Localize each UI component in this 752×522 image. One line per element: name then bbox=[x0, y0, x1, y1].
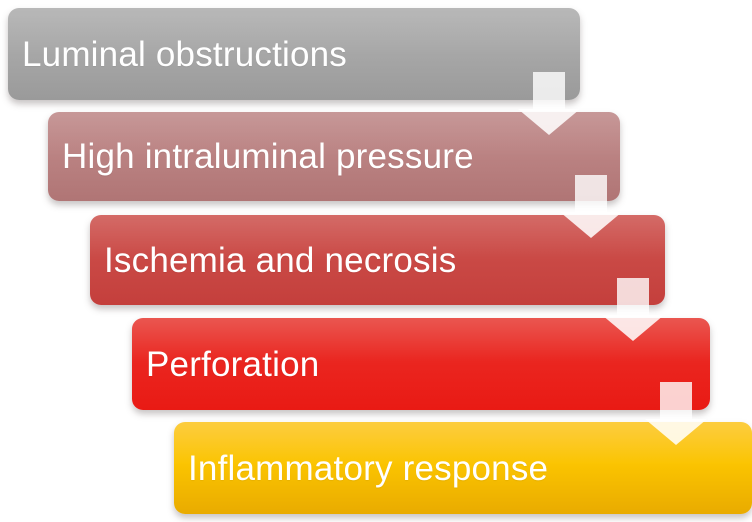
flow-step-perforation[interactable]: Perforation bbox=[132, 318, 710, 410]
flow-step-label: Luminal obstructions bbox=[8, 37, 347, 72]
flowchart-canvas: Luminal obstructions High intraluminal p… bbox=[0, 0, 752, 522]
flow-step-label: High intraluminal pressure bbox=[48, 139, 474, 174]
flow-step-inflammatory-response[interactable]: Inflammatory response bbox=[174, 422, 752, 514]
flow-step-label: Perforation bbox=[132, 347, 319, 382]
flow-step-label: Inflammatory response bbox=[174, 451, 548, 486]
flow-step-label: Ischemia and necrosis bbox=[90, 243, 456, 278]
flow-step-ischemia-and-necrosis[interactable]: Ischemia and necrosis bbox=[90, 215, 665, 305]
flow-step-high-intraluminal-pressure[interactable]: High intraluminal pressure bbox=[48, 112, 620, 201]
flow-step-luminal-obstructions[interactable]: Luminal obstructions bbox=[8, 8, 580, 100]
